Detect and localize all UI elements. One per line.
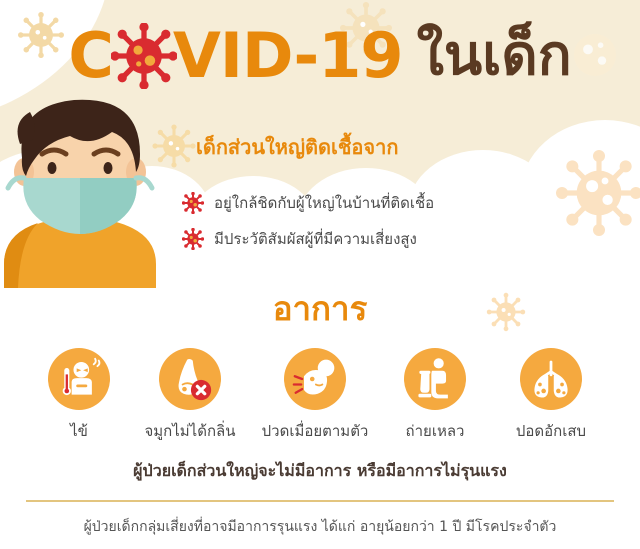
- virus-bullet-icon: [182, 192, 204, 214]
- symptom-label: ปอดอักเสบ: [516, 419, 586, 443]
- list-item: อยู่ใกล้ชิดกับผู้ใหญ่ในบ้านที่ติดเชื้อ: [182, 185, 602, 221]
- footer-note-strong: ผู้ป่วยเด็กส่วนใหญ่จะไม่มีอาการ หรือมีอา…: [0, 459, 640, 484]
- diarrhea-toilet-icon: [404, 348, 466, 410]
- body-ache-icon: [284, 348, 346, 410]
- boy-with-mask-illustration: [0, 92, 166, 288]
- symptom-item-loss-of-smell: จมูกไม่ได้กลิ่น: [129, 348, 251, 443]
- symptoms-heading: อาการ: [0, 282, 640, 335]
- list-item: มีประวัติสัมผัสผู้ที่มีความเสี่ยงสูง: [182, 221, 602, 257]
- virus-icon: [111, 23, 177, 89]
- symptom-label: ปวดเมื่อยตามตัว: [262, 419, 369, 443]
- poster-title: C: [0, 22, 640, 90]
- footer-note-plain: ผู้ป่วยเด็กกลุ่มเสี่ยงที่อาจมีอาการรุนแร…: [0, 516, 640, 538]
- title-text-vid: VID-19: [173, 25, 403, 87]
- symptoms-list: ไข้ จมูกไม่ได้กลิ่น: [0, 348, 640, 443]
- list-item-label: มีประวัติสัมผัสผู้ที่มีความเสี่ยงสูง: [214, 232, 417, 247]
- fever-thermometer-icon: [48, 348, 110, 410]
- symptom-label: ไข้: [70, 419, 88, 443]
- footer-divider: [26, 500, 614, 502]
- transmission-list: อยู่ใกล้ชิดกับผู้ใหญ่ในบ้านที่ติดเชื้อ: [182, 185, 602, 257]
- symptom-item-body-ache: ปวดเมื่อยตามตัว: [251, 348, 379, 443]
- title-text-thai: ในเด็ก: [417, 28, 572, 84]
- symptom-label: ถ่ายเหลว: [406, 419, 465, 443]
- nose-no-smell-icon: [159, 348, 221, 410]
- title-letter-c: C: [68, 25, 113, 87]
- transmission-heading: เด็กส่วนใหญ่ติดเชื้อจาก: [196, 131, 399, 163]
- lungs-pneumonia-icon: [520, 348, 582, 410]
- symptom-item-diarrhea: ถ่ายเหลว: [379, 348, 491, 443]
- virus-bullet-icon: [182, 228, 204, 250]
- symptom-item-fever: ไข้: [29, 348, 129, 443]
- list-item-label: อยู่ใกล้ชิดกับผู้ใหญ่ในบ้านที่ติดเชื้อ: [214, 196, 434, 211]
- symptom-label: จมูกไม่ได้กลิ่น: [144, 419, 235, 443]
- symptom-item-pneumonia: ปอดอักเสบ: [491, 348, 611, 443]
- infographic-poster: C: [0, 0, 640, 549]
